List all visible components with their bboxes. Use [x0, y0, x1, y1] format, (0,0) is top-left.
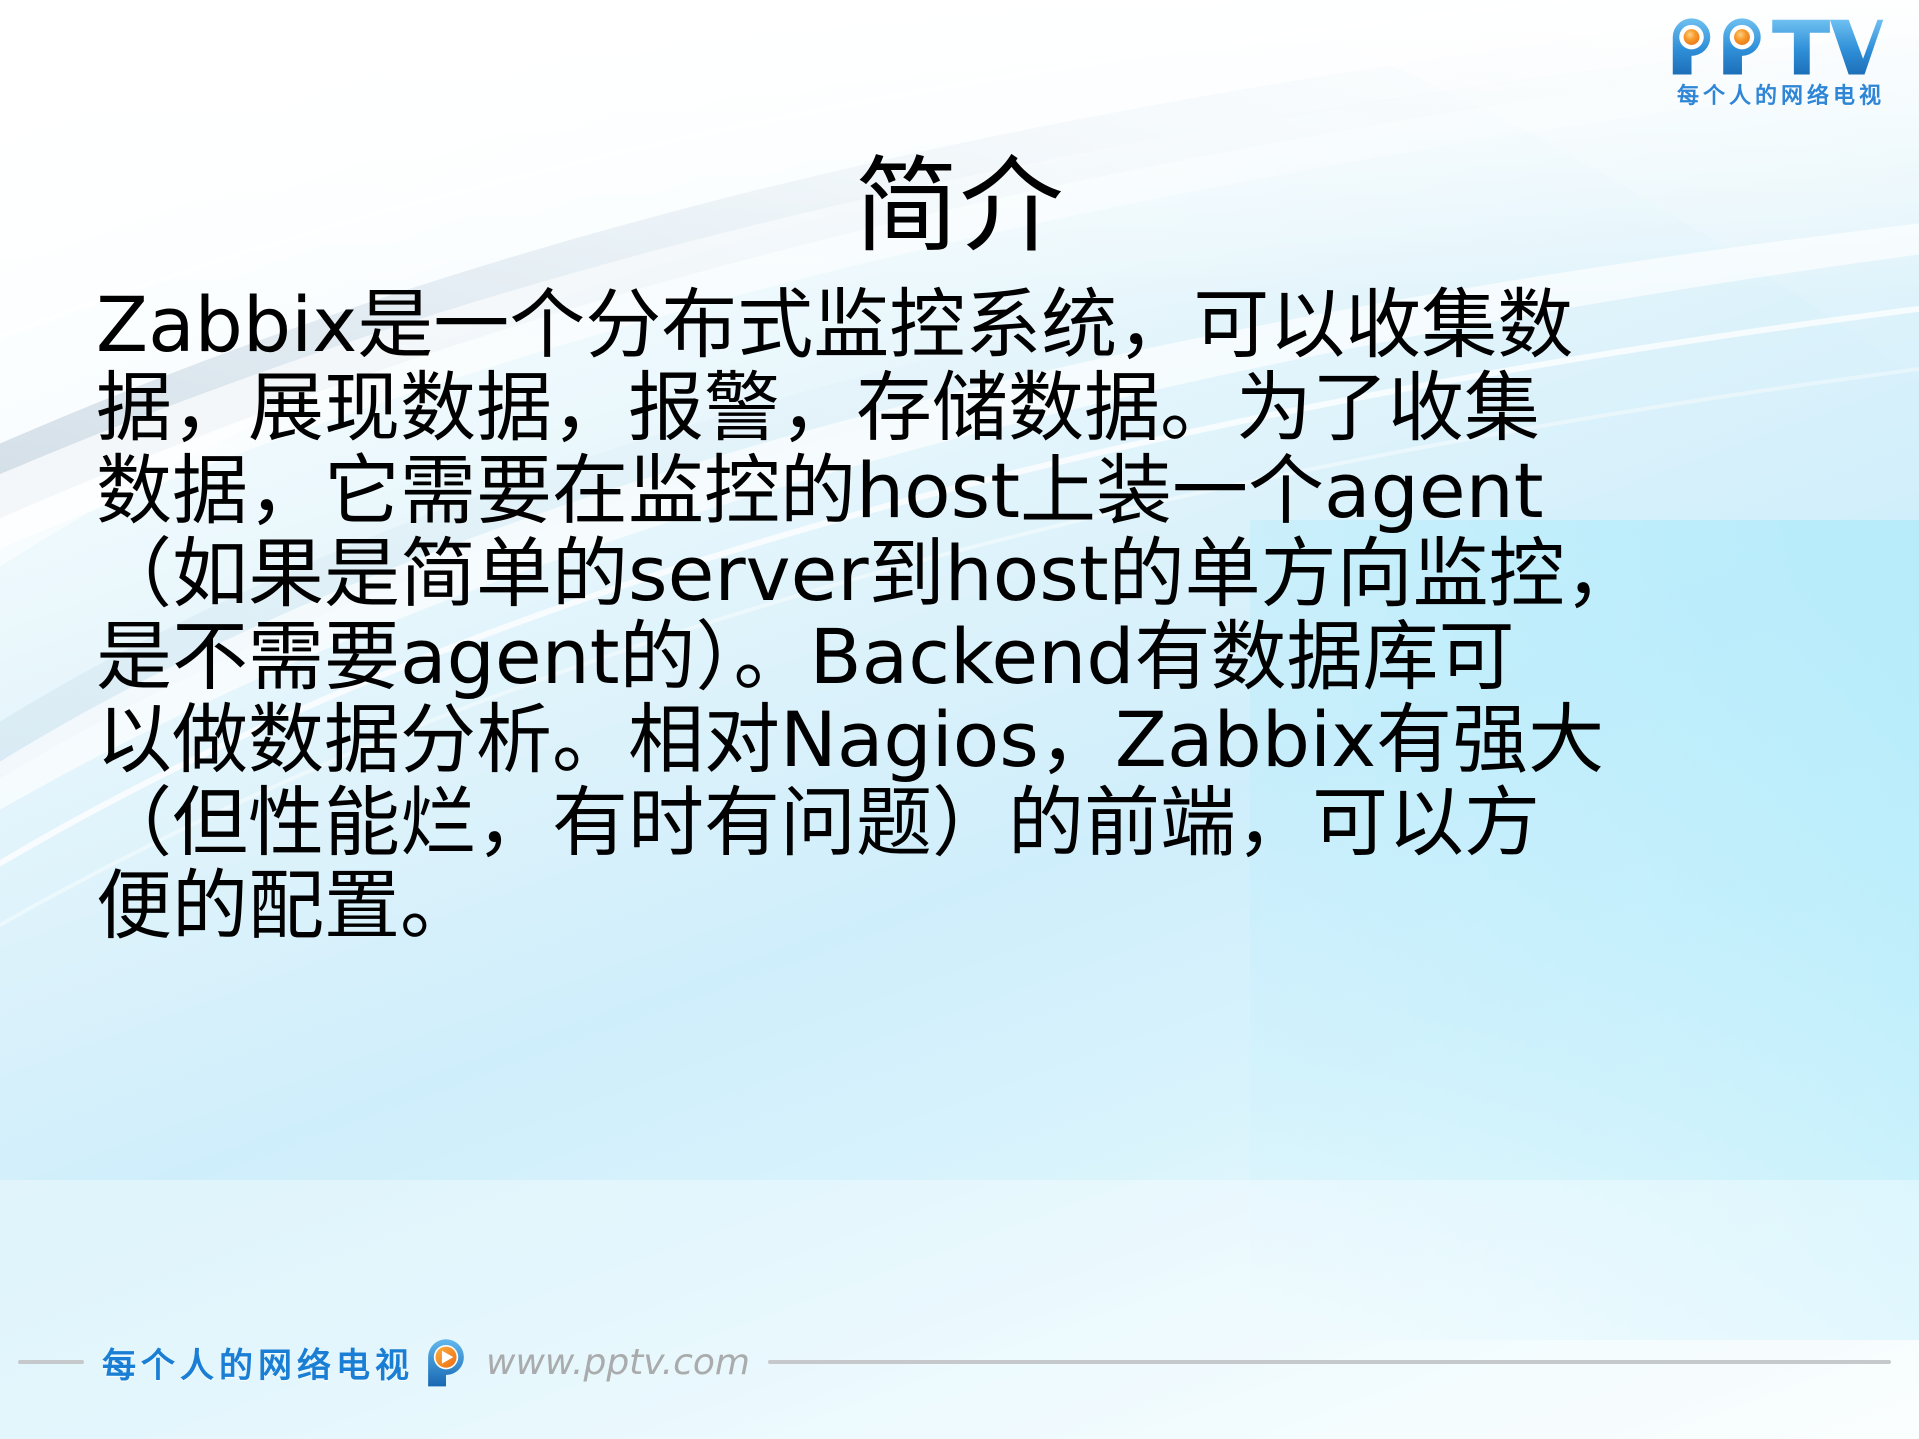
slide-footer: 每个人的网络电视 www.pptv.com: [0, 1333, 1919, 1391]
body-line: （如果是简单的server到host的单方向监控，: [96, 532, 1496, 615]
body-line: 据，展现数据，报警，存储数据。为了收集: [96, 366, 1496, 449]
slide-title: 简介: [0, 148, 1919, 264]
footer-tagline: 每个人的网络电视: [102, 1338, 414, 1387]
footer-divider-right: [768, 1360, 1891, 1364]
body-line: （但性能烂，有时有问题）的前端，可以方: [96, 781, 1496, 864]
pptv-logo-tagline: 每个人的网络电视: [1667, 78, 1895, 110]
body-line: 以做数据分析。相对Nagios，Zabbix有强大: [96, 698, 1496, 781]
body-line: Zabbix是一个分布式监控系统，可以收集数: [96, 283, 1496, 366]
pptv-play-icon: [420, 1336, 472, 1388]
body-line: 数据，它需要在监控的host上装一个agent: [96, 449, 1496, 532]
presentation-slide: 每个人的网络电视 简介 Zabbix是一个分布式监控系统，可以收集数 据，展现数…: [0, 0, 1919, 1439]
footer-divider-left: [18, 1360, 84, 1364]
body-line: 是不需要agent的）。Backend有数据库可: [96, 615, 1496, 698]
footer-url: www.pptv.com: [486, 1342, 750, 1383]
body-line: 便的配置。: [96, 864, 1496, 947]
slide-body-text: Zabbix是一个分布式监控系统，可以收集数 据，展现数据，报警，存储数据。为了…: [96, 283, 1496, 947]
pptv-logo: 每个人的网络电视: [1667, 14, 1895, 118]
pptv-logo-icon: [1667, 14, 1883, 76]
